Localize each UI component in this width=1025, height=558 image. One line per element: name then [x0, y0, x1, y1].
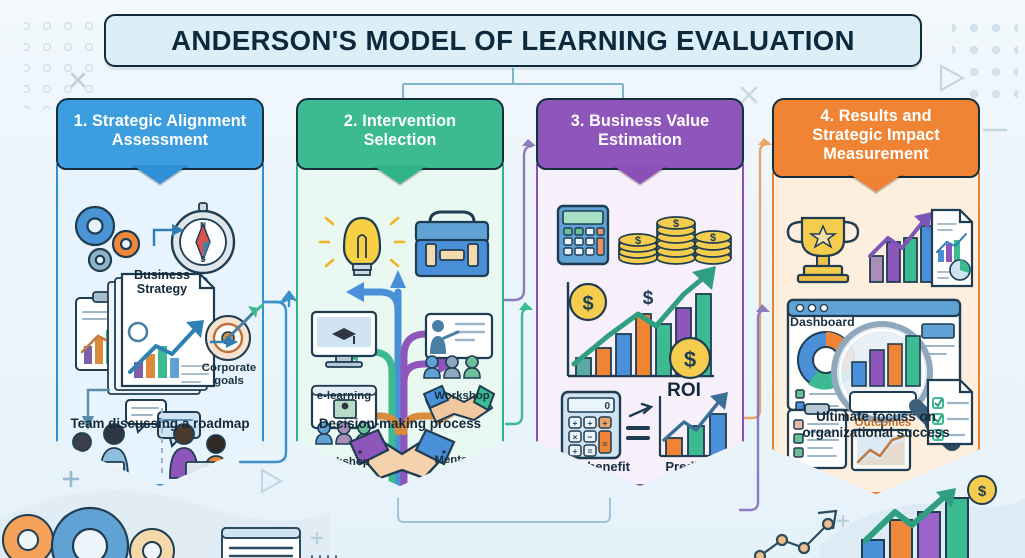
- svg-text:−: −: [588, 432, 593, 442]
- workshop-label-bottom: Workshop: [302, 456, 382, 469]
- svg-text:N: N: [200, 221, 206, 230]
- growth-bar-chart-icon: $ $ $: [568, 266, 716, 378]
- growth-bar-chart-icon: [870, 212, 934, 282]
- page-title: ANDERSON'S MODEL OF LEARNING EVALUATION: [171, 25, 855, 57]
- triangle-outline-right: [941, 66, 963, 90]
- triangle-outline-left: [262, 470, 281, 492]
- connector-stage2-to-stage3: [504, 146, 532, 300]
- stage-2-header[interactable]: 2. Intervention Selection: [296, 98, 504, 170]
- stage-column-3[interactable]: 3. Business Value Estimation: [536, 98, 744, 486]
- stage-4-heading: 4. Results and Strategic Impact Measurem…: [784, 107, 968, 163]
- svg-text:$: $: [673, 218, 679, 230]
- dashboard-label: Dashboard: [790, 316, 870, 330]
- business-strategy-label: Business Strategy: [120, 268, 204, 296]
- stage-4-body: Dashboard Outcomes Ultimate focuss on or…: [772, 172, 980, 494]
- calculator-icon: [558, 206, 608, 264]
- svg-text:+: +: [573, 446, 578, 456]
- stage-2-heading: 2. Intervention Selection: [308, 112, 492, 150]
- document-decor-bottom-left: [222, 528, 300, 558]
- svg-text:=: =: [588, 446, 593, 456]
- svg-text:$: $: [643, 288, 654, 309]
- stage-1-heading: 1. Strategic Alignment Assessment: [68, 112, 252, 150]
- toolbox-icon: [416, 212, 488, 276]
- stage-1-body: N S: [56, 164, 264, 486]
- infographic-canvas: $: [0, 0, 1025, 558]
- stage-column-4[interactable]: 4. Results and Strategic Impact Measurem…: [772, 98, 980, 494]
- connector-arrow-3: [519, 302, 533, 310]
- compass-icon: N S: [172, 203, 234, 273]
- stage-4-header[interactable]: 4. Results and Strategic Impact Measurem…: [772, 98, 980, 178]
- stage-1-header[interactable]: 1. Strategic Alignment Assessment: [56, 98, 264, 170]
- mentoring-label: Mentoring: [422, 454, 502, 467]
- svg-text:=: =: [603, 439, 608, 449]
- stage-4-caption: Ultimate focuss on organizational succes…: [780, 409, 972, 440]
- x-mark-center: [742, 88, 756, 102]
- stage-2-body: e-learning Workshop Workshop Mentoring D…: [296, 164, 504, 486]
- roi-label: ROI: [656, 380, 712, 401]
- connector-arrow-5: [756, 304, 770, 312]
- roi-chart-icon: [660, 392, 728, 456]
- stage-3-header[interactable]: 3. Business Value Estimation: [536, 98, 744, 170]
- lightbulb-icon: [320, 218, 404, 275]
- svg-text:$: $: [582, 293, 593, 315]
- stage-4-artwork: [774, 194, 982, 516]
- corporate-goals-label: Corporate goals: [198, 362, 260, 388]
- stage-column-2[interactable]: 2. Intervention Selection: [296, 98, 504, 486]
- connector-arrow-2: [522, 139, 536, 146]
- connector-stage3-to-stage4: [744, 144, 768, 418]
- stage-2-artwork: [298, 186, 506, 508]
- plus-mark-small: [312, 516, 848, 543]
- gears-icon: [76, 207, 139, 271]
- svg-text:$: $: [635, 235, 641, 247]
- trophy-icon: [788, 218, 858, 282]
- connector-stage2-to-stage3-lower: [506, 308, 530, 424]
- stage-3-body: $ $: [536, 164, 744, 486]
- svg-text:×: ×: [573, 432, 578, 442]
- svg-text:+: +: [603, 418, 608, 428]
- svg-text:$: $: [684, 347, 696, 372]
- coin-stacks-icon: $ $: [619, 217, 731, 264]
- calculator-display-value: 0: [604, 401, 610, 412]
- monitor-graduation-cap-icon: [312, 312, 376, 367]
- svg-text:$: $: [710, 232, 716, 244]
- connector-arrow-4: [758, 138, 772, 145]
- svg-text:+: +: [588, 418, 593, 428]
- page-title-bar: ANDERSON'S MODEL OF LEARNING EVALUATION: [104, 14, 922, 67]
- connector-title-to-stages: [403, 68, 623, 99]
- e-learning-label: e-learning: [304, 390, 384, 403]
- connector-arrow-1: [282, 293, 296, 300]
- calculator-icon-bottom: 0 +++ ×−= +=: [562, 392, 620, 458]
- workshop-label-top: Workshop: [422, 390, 502, 403]
- stage-3-artwork: $ $: [538, 186, 746, 508]
- cost-benefit-label: Cost-benefit analysis: [542, 460, 642, 489]
- team-discussion-icon: [70, 400, 228, 480]
- stage-3-heading: 3. Business Value Estimation: [548, 112, 732, 150]
- presentation-board-icon: [424, 314, 492, 378]
- report-document-icon: [932, 210, 972, 286]
- stage-1-caption: Team discussing a roadmap: [64, 416, 256, 432]
- predicted-value-label: Predicted value: [648, 460, 742, 489]
- stage-2-caption: Decision-making process: [304, 416, 496, 432]
- equals-icon: [628, 404, 651, 438]
- stage-column-1[interactable]: 1. Strategic Alignment Assessment: [56, 98, 264, 486]
- stage-1-artwork: N S: [58, 186, 266, 508]
- svg-text:+: +: [573, 418, 578, 428]
- connector-left-rail: [398, 498, 610, 522]
- svg-text:S: S: [200, 255, 206, 264]
